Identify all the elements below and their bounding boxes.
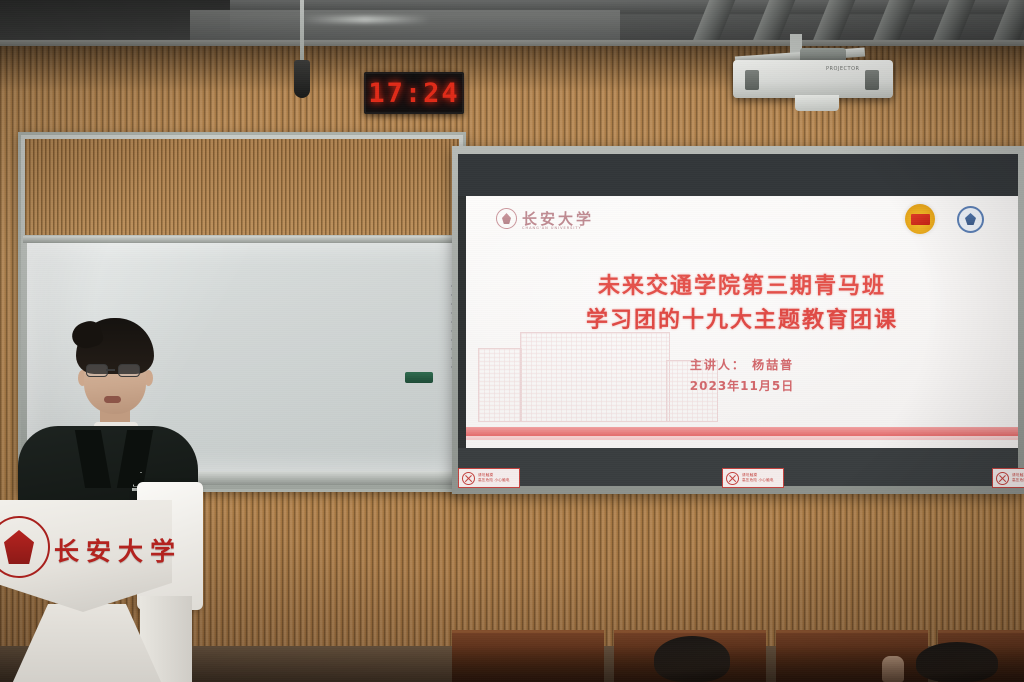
- whiteboard-rail: [23, 236, 461, 243]
- screen-warning-sticker: 请勿触摸 高压危险 小心触电: [722, 468, 784, 488]
- projector-vent: [745, 70, 759, 90]
- projector-vent: [865, 70, 879, 90]
- sticker-line2: 高压危险 小心触电: [478, 478, 510, 482]
- building-tower-right: [666, 360, 718, 422]
- sticker-line2: 高压危险 小心触电: [742, 478, 774, 482]
- communist-youth-league-badge-icon: [905, 204, 935, 234]
- slide-badges: [905, 204, 984, 234]
- digital-wall-clock: 17:24: [364, 72, 464, 114]
- eyeglasses-icon: [118, 364, 140, 377]
- lectern: 长安大学: [0, 500, 194, 682]
- whiteboard-upper-panel: [25, 139, 459, 235]
- projector-lens: [795, 95, 839, 111]
- ceiling-light-strip: [300, 16, 430, 23]
- screen-letterbox-top: [458, 154, 1018, 196]
- clock-time-text: 17:24: [368, 78, 459, 109]
- university-seal-icon: [496, 208, 517, 229]
- university-subtitle-text: CHANG'AN UNIVERSITY: [522, 226, 582, 230]
- slide-title-line1: 未来交通学院第三期青马班: [466, 270, 1018, 304]
- no-touch-icon: [462, 472, 475, 485]
- person-mouth: [104, 396, 121, 403]
- lectern-university-label: 长安大学: [54, 532, 182, 568]
- sticker-line1: 请勿触摸: [742, 473, 757, 477]
- slide-band-red: [466, 427, 1018, 436]
- projection-screen-frame: 长安大学 CHANG'AN UNIVERSITY 未来交通学院第三期青马班 学习…: [452, 146, 1024, 494]
- hanging-cable: [300, 0, 304, 62]
- campus-building-illustration: [474, 314, 724, 422]
- sticker-line2: 高压危险 小心触电: [1012, 478, 1024, 482]
- screen-warning-sticker: 请勿触摸 高压危险 小心触电: [992, 468, 1024, 488]
- presentation-slide: 长安大学 CHANG'AN UNIVERSITY 未来交通学院第三期青马班 学习…: [466, 196, 1018, 448]
- no-touch-icon: [996, 472, 1009, 485]
- building-main-block: [520, 332, 670, 422]
- eyeglasses-icon: [86, 364, 108, 377]
- whiteboard-eraser: [405, 372, 433, 383]
- university-seal-badge-icon: [957, 206, 984, 233]
- eyeglasses-bridge: [106, 369, 115, 371]
- screen-warning-sticker: 请勿触摸 高压危险 小心触电: [458, 468, 520, 488]
- building-tower-left: [478, 348, 522, 422]
- sticker-line1: 请勿触摸: [1012, 473, 1024, 477]
- sticker-line1: 请勿触摸: [478, 473, 493, 477]
- no-touch-icon: [726, 472, 739, 485]
- ceiling-panel: [190, 10, 620, 40]
- hanging-cable-head: [294, 60, 310, 98]
- lecture-hall-photo: 17:24 PROJECTOR 长安大学: [0, 0, 1024, 682]
- projection-screen: 长安大学 CHANG'AN UNIVERSITY 未来交通学院第三期青马班 学习…: [458, 154, 1018, 486]
- projector-brand-text: PROJECTOR: [826, 66, 860, 72]
- ceiling-projector: [733, 60, 893, 98]
